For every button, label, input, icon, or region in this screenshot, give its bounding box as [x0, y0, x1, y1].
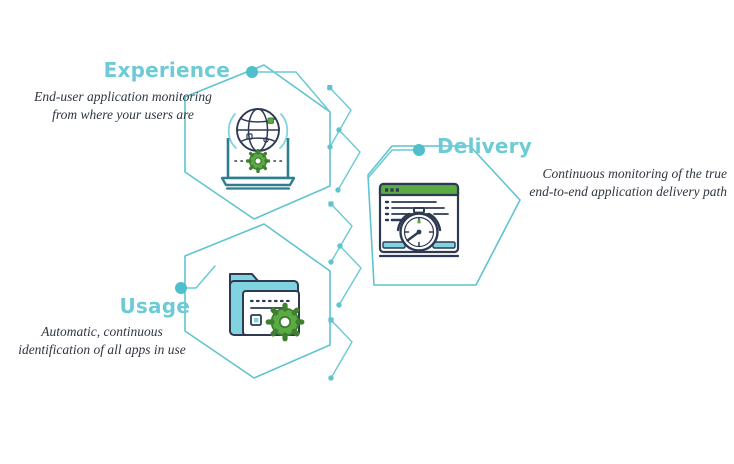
- trace-terminal-dot-5: [328, 259, 333, 264]
- trace-upper-2: [338, 130, 360, 190]
- trace-terminal-dot-6: [336, 302, 341, 307]
- heading-experience: Experience: [8, 60, 238, 80]
- trace-terminal-dot-2: [327, 144, 332, 149]
- trace-terminal-square-1: [327, 85, 332, 90]
- trace-upper-1: [330, 88, 351, 147]
- dot-delivery: [413, 144, 425, 156]
- leader-delivery: [368, 150, 418, 178]
- leader-experience: [252, 72, 330, 112]
- leader-usage: [181, 266, 215, 288]
- label-block-experience: Experience End-user application monitori…: [8, 60, 238, 124]
- trace-lower-1: [331, 204, 352, 262]
- dot-usage: [175, 282, 187, 294]
- diagram-canvas: Experience End-user application monitori…: [0, 0, 734, 464]
- description-experience: End-user application monitoring from whe…: [8, 88, 238, 124]
- trace-terminal-dot-4: [337, 243, 342, 248]
- heading-usage: Usage: [8, 296, 196, 316]
- trace-terminal-square-3: [328, 317, 333, 322]
- heading-delivery: Delivery: [437, 136, 727, 156]
- trace-lower-2: [339, 246, 361, 305]
- folder-document-gear-icon: [230, 274, 302, 339]
- trace-terminal-dot-1: [336, 127, 341, 132]
- description-delivery: Continuous monitoring of the true end-to…: [437, 165, 727, 201]
- browser-window-dots: [385, 188, 399, 192]
- dot-experience: [246, 66, 258, 78]
- label-block-usage: Usage Automatic, continuous identificati…: [8, 296, 196, 359]
- trace-terminal-square-2: [328, 201, 333, 206]
- description-usage: Automatic, continuous identification of …: [8, 323, 196, 359]
- trace-terminal-dot-3: [335, 187, 340, 192]
- circuit-traces: [330, 88, 361, 378]
- trace-terminal-dot-7: [328, 375, 333, 380]
- label-block-delivery: Delivery Continuous monitoring of the tr…: [437, 136, 727, 201]
- trace-lower-3: [331, 320, 352, 378]
